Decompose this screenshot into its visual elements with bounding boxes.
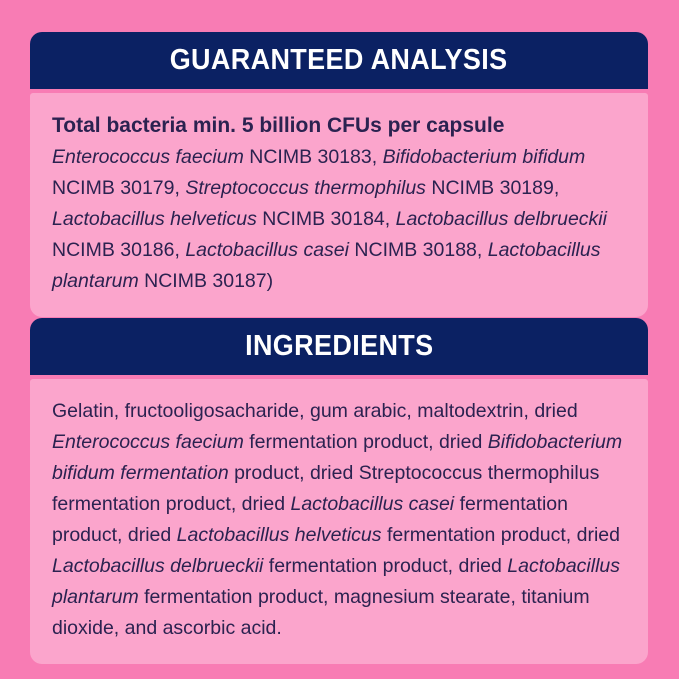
ingredients-header: INGREDIENTS bbox=[30, 318, 648, 375]
guaranteed-analysis-panel: GUARANTEED ANALYSIS Total bacteria min. … bbox=[30, 32, 648, 317]
guaranteed-analysis-text: Enterococcus faecium NCIMB 30183, Bifido… bbox=[52, 142, 626, 297]
guaranteed-analysis-header: GUARANTEED ANALYSIS bbox=[30, 32, 648, 89]
ingredients-text: Gelatin, fructooligosacharide, gum arabi… bbox=[52, 396, 626, 644]
guaranteed-analysis-body: Total bacteria min. 5 billion CFUs per c… bbox=[30, 93, 648, 317]
ingredients-title: INGREDIENTS bbox=[245, 330, 433, 363]
guaranteed-analysis-title: GUARANTEED ANALYSIS bbox=[170, 44, 508, 77]
ingredients-panel: INGREDIENTS Gelatin, fructooligosacharid… bbox=[30, 318, 648, 664]
ingredients-body: Gelatin, fructooligosacharide, gum arabi… bbox=[30, 379, 648, 664]
supplement-label-page: { "theme": { "page_background": "#f87cb4… bbox=[0, 0, 679, 679]
guaranteed-analysis-lead-line: Total bacteria min. 5 billion CFUs per c… bbox=[52, 110, 626, 141]
